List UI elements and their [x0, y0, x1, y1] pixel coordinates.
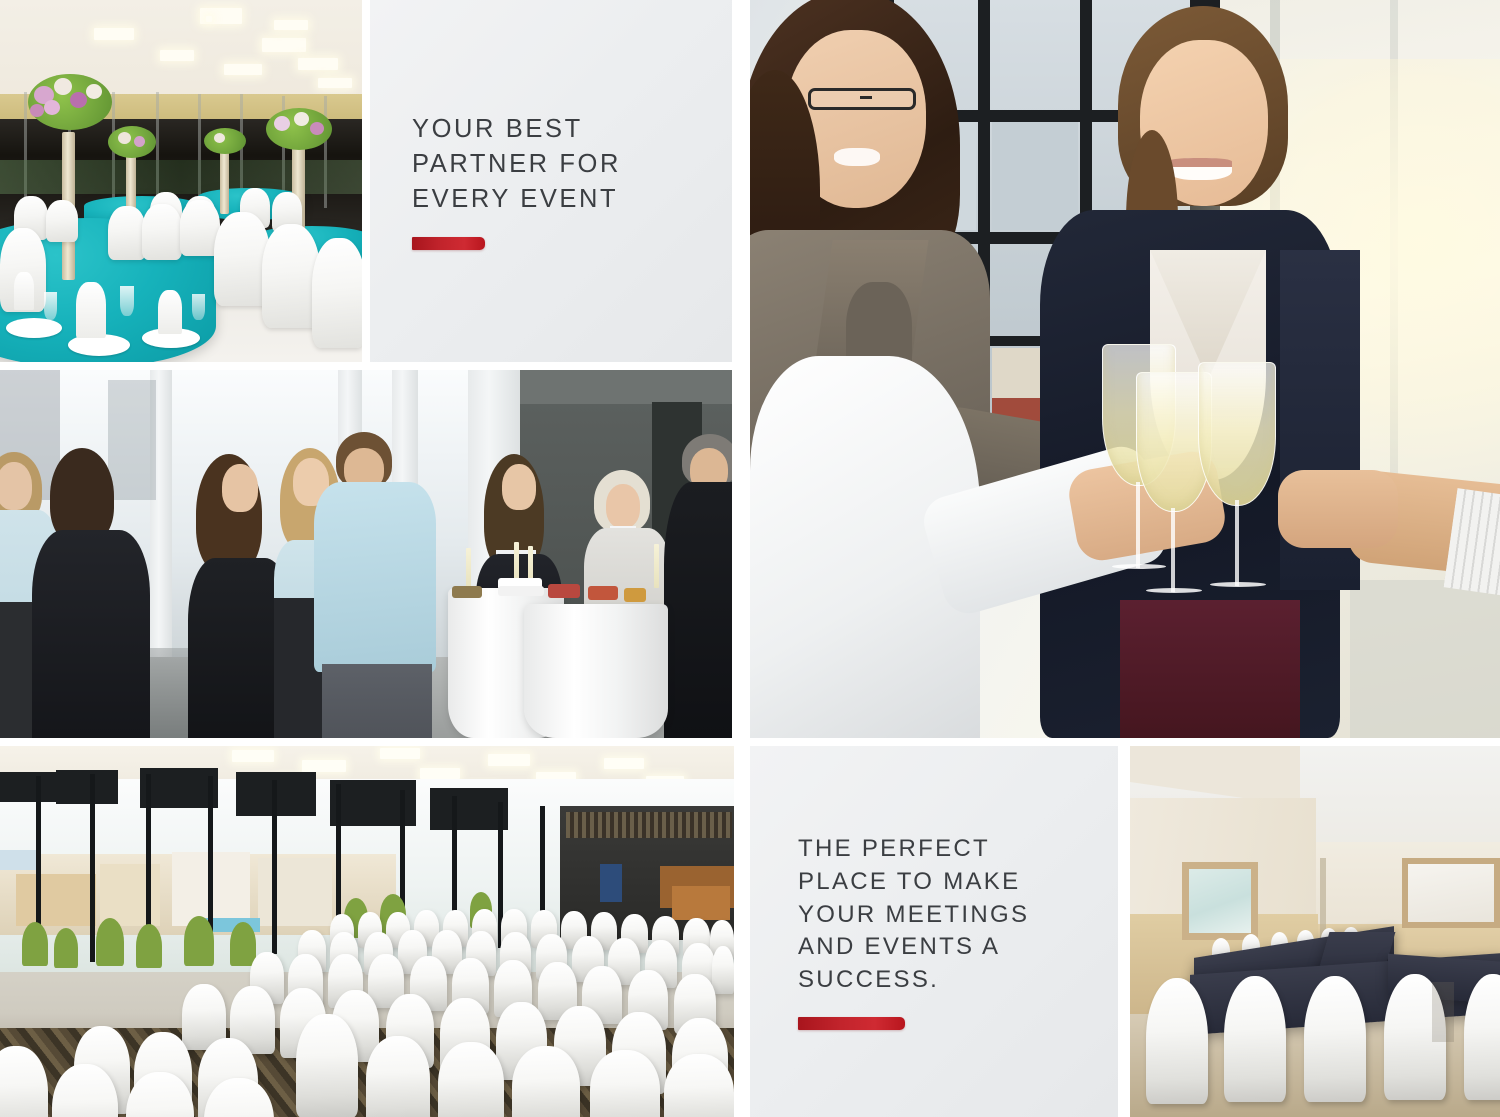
photo-banquet-hall — [0, 0, 362, 362]
accent-bar-bottom-icon — [798, 1017, 905, 1030]
photo-toast — [750, 0, 1500, 738]
photo-networking — [0, 370, 732, 738]
accent-bar-top-icon — [412, 237, 485, 250]
collage-root: YOUR BEST PARTNER FOR EVERY EVENT — [0, 0, 1500, 1117]
headline-panel-bottom: THE PERFECT PLACE TO MAKE YOUR MEETINGS … — [750, 746, 1118, 1117]
photo-boardroom — [1130, 746, 1500, 1117]
headline-bottom: THE PERFECT PLACE TO MAKE YOUR MEETINGS … — [798, 833, 1118, 996]
photo-theater-seating — [0, 746, 734, 1117]
headline-top: YOUR BEST PARTNER FOR EVERY EVENT — [412, 112, 732, 216]
headline-panel-top: YOUR BEST PARTNER FOR EVERY EVENT — [370, 0, 732, 362]
